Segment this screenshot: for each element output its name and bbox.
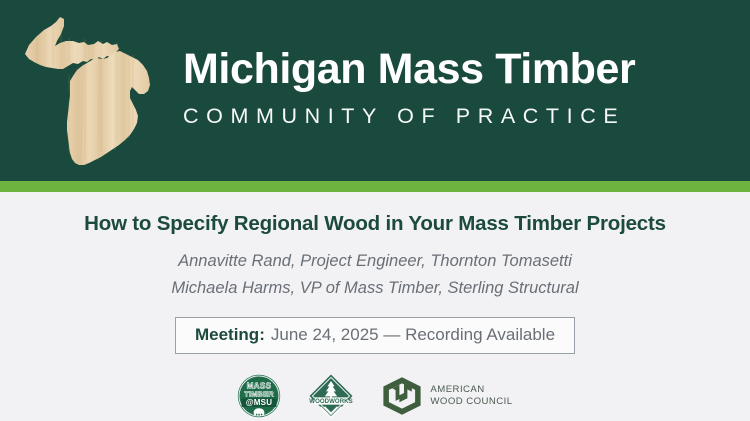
event-poster: Michigan Mass Timber COMMUNITY OF PRACTI… xyxy=(0,0,750,421)
mass-timber-at-msu-icon: MASS TIMBER @MSU xyxy=(237,374,281,418)
svg-text:@MSU: @MSU xyxy=(246,399,272,408)
poster-body: How to Specify Regional Wood in Your Mas… xyxy=(0,192,750,421)
accent-divider xyxy=(0,181,750,192)
svg-text:WOODWORKS: WOODWORKS xyxy=(310,398,353,405)
header-text-block: Michigan Mass Timber COMMUNITY OF PRACTI… xyxy=(175,48,750,130)
poster-header: Michigan Mass Timber COMMUNITY OF PRACTI… xyxy=(0,0,750,181)
speaker-line: Michaela Harms, VP of Mass Timber, Sterl… xyxy=(171,275,578,302)
sponsor-logo-row: MASS TIMBER @MSU xyxy=(237,372,512,420)
session-title: How to Specify Regional Wood in Your Mas… xyxy=(84,212,666,236)
michigan-map-wrap xyxy=(0,0,175,181)
speaker-line: Annavitte Rand, Project Engineer, Thornt… xyxy=(171,248,578,275)
awc-line-1: AMERICAN xyxy=(430,384,512,396)
meeting-info-box: Meeting: June 24, 2025 — Recording Avail… xyxy=(175,317,575,354)
american-wood-council-cube-icon xyxy=(381,375,423,417)
logo-american-wood-council[interactable]: AMERICAN WOOD COUNCIL xyxy=(381,375,512,417)
meeting-label: Meeting: xyxy=(195,325,265,345)
michigan-map-icon xyxy=(15,12,167,172)
awc-line-2: WOOD COUNCIL xyxy=(430,396,512,408)
meeting-value: June 24, 2025 — Recording Available xyxy=(271,325,555,345)
logo-mass-timber-at-msu[interactable]: MASS TIMBER @MSU xyxy=(237,374,281,418)
poster-title: Michigan Mass Timber xyxy=(183,48,724,92)
american-wood-council-wordmark: AMERICAN WOOD COUNCIL xyxy=(430,384,512,409)
logo-woodworks[interactable]: WOODWORKS xyxy=(307,372,355,420)
poster-subtitle: COMMUNITY OF PRACTICE xyxy=(183,104,724,129)
speaker-list: Annavitte Rand, Project Engineer, Thornt… xyxy=(171,248,578,301)
woodworks-icon: WOODWORKS xyxy=(307,372,355,420)
